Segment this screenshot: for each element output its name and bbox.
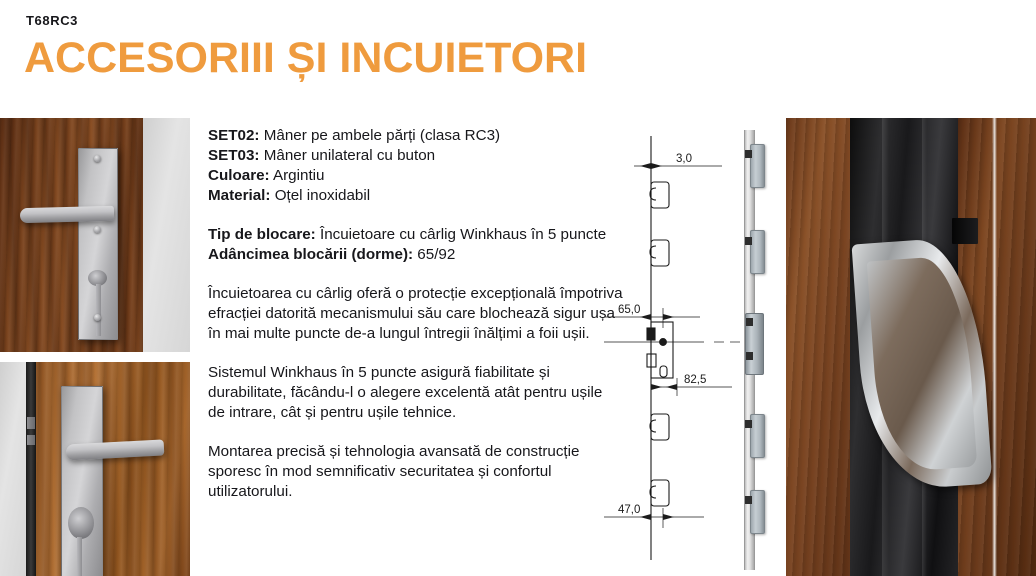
left-photo-column xyxy=(0,118,190,576)
rail-case-nub-1 xyxy=(746,318,753,326)
page-title: ACCESORIII ȘI INCUIETORI xyxy=(24,34,587,83)
key-cylinder xyxy=(68,507,94,539)
frame-bright-edge xyxy=(992,118,997,576)
spec-value: Oțel inoxidabil xyxy=(270,187,370,204)
rail-hook-plate-2 xyxy=(750,230,765,274)
spindle-hole xyxy=(660,366,667,377)
paragraph-reliability: Sistemul Winkhaus în 5 puncte asigură fi… xyxy=(208,363,623,423)
hook-body-3 xyxy=(651,414,669,440)
hook-body-4 xyxy=(651,480,669,506)
spec-list-secondary: Tip de blocare: Încuietoare cu cârlig Wi… xyxy=(208,225,623,265)
strike-plate-slot-upper xyxy=(952,218,978,244)
spacer xyxy=(208,265,623,284)
spec-item-material: Material: Oțel inoxidabil xyxy=(208,186,623,206)
page-header: T68RC3 ACCESORIII ȘI INCUIETORI xyxy=(0,0,1036,118)
dim-arrow-top-right xyxy=(651,163,662,169)
photo-door-handle-exterior xyxy=(0,118,190,352)
rail-hook-nub-4 xyxy=(745,496,752,504)
product-description-column: SET02: Mâner pe ambele părți (clasa RC3)… xyxy=(208,126,623,502)
spacer xyxy=(208,206,623,225)
spec-label: SET03: xyxy=(208,147,260,164)
spacer xyxy=(208,344,623,363)
spec-item-set02: SET02: Mâner pe ambele părți (clasa RC3) xyxy=(208,126,623,146)
inserted-key xyxy=(96,284,101,336)
spec-item-adancimea-blocarii: Adâncimea blocării (dorme): 65/92 xyxy=(208,245,623,265)
rail-hook-plate-3 xyxy=(750,414,765,458)
dim-label-65: 65,0 xyxy=(618,304,640,316)
plate-screw-bottom xyxy=(94,314,101,321)
product-sheet-page: T68RC3 ACCESORIII ȘI INCUIETORI xyxy=(0,0,1036,576)
rail-hook-plate-4 xyxy=(750,490,765,534)
rail-hook-plate-1 xyxy=(750,144,765,188)
spec-value: Mâner unilateral cu buton xyxy=(260,147,436,164)
spec-label: Material: xyxy=(208,187,270,204)
door-frame-wood-left xyxy=(786,118,850,576)
plate-screw-top xyxy=(94,155,101,162)
spec-item-set03: SET03: Mâner unilateral cu buton xyxy=(208,146,623,166)
spec-label: Tip de blocare: xyxy=(208,226,316,243)
spec-value: Mâner pe ambele părți (clasa RC3) xyxy=(260,127,501,144)
rail-case-nub-2 xyxy=(746,352,753,360)
inserted-key xyxy=(77,537,82,576)
paragraph-installation: Montarea precisă și tehnologia avansată … xyxy=(208,442,623,502)
spec-list-primary: SET02: Mâner pe ambele părți (clasa RC3)… xyxy=(208,126,623,206)
photo-multipoint-lock-rail xyxy=(736,130,766,570)
product-sku: T68RC3 xyxy=(26,13,78,28)
dim-arrow-top-left xyxy=(640,163,651,169)
dim-label-top: 3,0 xyxy=(676,153,692,165)
spec-value: 65/92 xyxy=(413,246,455,263)
photo-door-handle-interior xyxy=(0,362,190,576)
spec-item-tip-de-blocare: Tip de blocare: Încuietoare cu cârlig Wi… xyxy=(208,225,623,245)
rail-hook-nub-2 xyxy=(745,237,752,245)
spec-item-culoare: Culoare: Argintiu xyxy=(208,166,623,186)
spec-value: Încuietoare cu cârlig Winkhaus în 5 punc… xyxy=(316,226,606,243)
paragraph-protection: Încuietoarea cu cârlig oferă o protecție… xyxy=(208,284,623,344)
spec-value: Argintiu xyxy=(270,167,325,184)
door-hinge-lower xyxy=(27,435,35,445)
door-lever-handle xyxy=(20,206,114,223)
plate-screw-middle xyxy=(94,226,101,233)
rail-hook-nub-1 xyxy=(745,150,752,158)
door-edge xyxy=(26,362,36,576)
latch-bolt xyxy=(647,328,655,340)
spec-label: Culoare: xyxy=(208,167,270,184)
dim-label-82: 82,5 xyxy=(684,374,706,386)
wall-background xyxy=(0,362,26,576)
spacer xyxy=(208,423,623,442)
door-hinge-upper xyxy=(27,417,35,429)
photo-hook-bolt-closeup xyxy=(786,118,1036,576)
rail-hook-nub-3 xyxy=(745,420,752,428)
wall-background xyxy=(143,118,190,352)
spec-label: Adâncimea blocării (dorme): xyxy=(208,246,413,263)
spec-label: SET02: xyxy=(208,127,260,144)
handle-backplate xyxy=(61,386,103,576)
hook-body-2 xyxy=(651,240,669,266)
hook-body-1 xyxy=(651,182,669,208)
dim-label-47: 47,0 xyxy=(618,504,640,516)
